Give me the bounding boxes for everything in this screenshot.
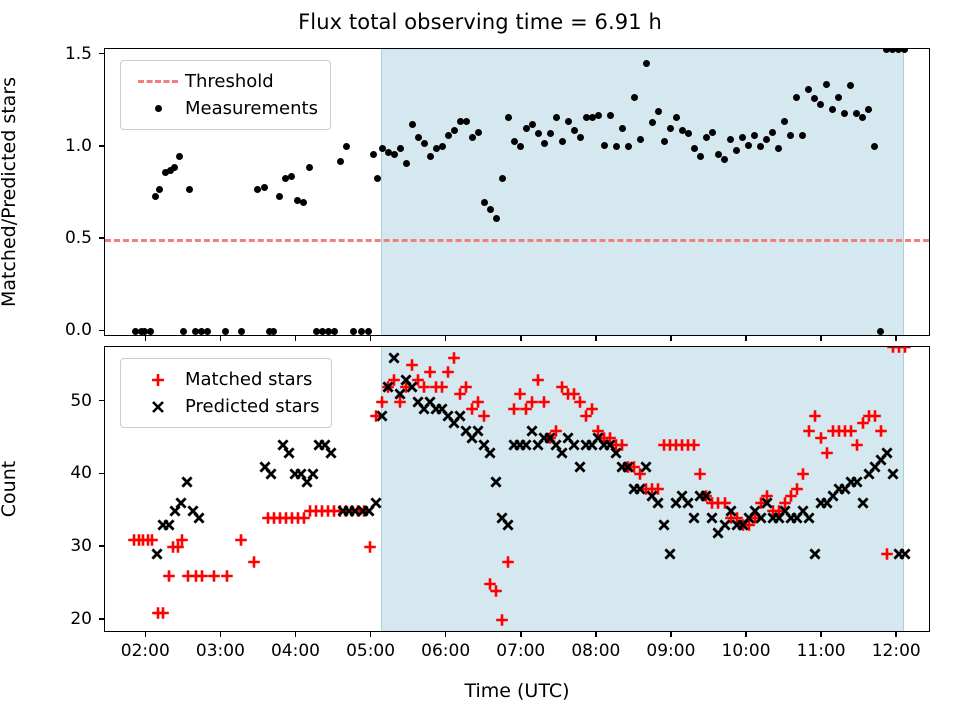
x-axis-tick — [520, 632, 522, 637]
legend-label-matched-stars: Matched stars — [185, 369, 312, 390]
data-point-measurement — [374, 175, 381, 182]
observing-window-edge — [903, 347, 904, 631]
y-axis-tick — [99, 330, 104, 332]
data-point-measurement — [553, 114, 560, 121]
data-point-measurement — [763, 136, 770, 143]
data-point-measurement — [667, 125, 674, 132]
x-axis-tick-label: 03:00 — [196, 641, 245, 661]
legend-label-predicted-stars: Predicted stars — [185, 396, 319, 417]
data-point-measurement — [276, 193, 283, 200]
x-axis-tick — [895, 632, 897, 637]
y-axis-tick-label: 30 — [26, 536, 92, 556]
data-point-measurement — [571, 127, 578, 134]
x-axis-tick — [670, 632, 672, 637]
data-point-measurement — [661, 138, 668, 145]
data-point-measurement — [445, 132, 452, 139]
x-axis-tick — [145, 336, 147, 341]
legend-item-matched-stars: Matched stars — [131, 366, 319, 393]
x-axis-tick-label: 11:00 — [797, 641, 846, 661]
dot-marker-icon — [131, 105, 185, 112]
y-axis-tick-label: 0.0 — [26, 320, 92, 340]
x-axis-tick-label: 05:00 — [346, 641, 395, 661]
observing-window-edge — [903, 49, 904, 335]
data-point-measurement — [505, 114, 512, 121]
data-point-measurement — [727, 136, 734, 143]
x-axis-tick-label: 07:00 — [496, 641, 545, 661]
data-point-measurement — [559, 138, 566, 145]
x-axis-tick-label: 09:00 — [646, 641, 695, 661]
data-point-measurement — [487, 206, 494, 213]
legend-label-threshold: Threshold — [185, 71, 274, 92]
observing-window-edge — [381, 49, 382, 335]
data-point-measurement — [337, 158, 344, 165]
legend-item-predicted-stars: Predicted stars — [131, 393, 319, 420]
data-point-measurement — [463, 118, 470, 125]
data-point-measurement — [421, 140, 428, 147]
x-axis-tick-label: 08:00 — [571, 641, 620, 661]
x-axis-tick — [820, 336, 822, 341]
y-axis-tick — [99, 53, 104, 55]
x-axis-tick — [895, 336, 897, 341]
data-point-measurement — [343, 143, 350, 150]
x-axis-tick — [520, 336, 522, 341]
data-point-measurement — [331, 328, 338, 335]
x-axis-tick — [595, 632, 597, 637]
data-point-measurement — [709, 129, 716, 136]
data-point-measurement — [469, 134, 476, 141]
data-point-measurement — [619, 125, 626, 132]
x-axis-tick-label: 10:00 — [722, 641, 771, 661]
x-axis-tick — [220, 336, 222, 341]
x-axis-tick — [295, 336, 297, 341]
legend-label-measurements: Measurements — [185, 98, 318, 119]
data-point-measurement — [541, 140, 548, 147]
y-axis-tick — [99, 473, 104, 475]
threshold-line — [105, 239, 929, 242]
x-axis-tick — [295, 632, 297, 637]
y-axis-tick — [99, 545, 104, 547]
y-axis-tick-label: 20 — [26, 609, 92, 629]
data-point-measurement — [238, 328, 245, 335]
legend-item-threshold: Threshold — [131, 68, 318, 95]
data-point-measurement — [288, 173, 295, 180]
y-axis-tick-label: 1.5 — [26, 44, 92, 64]
data-point-measurement — [529, 121, 536, 128]
data-point-measurement — [499, 175, 506, 182]
x-axis-tick — [745, 336, 747, 341]
x-axis-tick — [445, 336, 447, 341]
data-point-measurement — [697, 153, 704, 160]
data-point-measurement — [481, 199, 488, 206]
data-point-measurement — [261, 184, 268, 191]
x-axis-tick-label: 12:00 — [872, 641, 921, 661]
data-point-measurement — [391, 151, 398, 158]
legend-item-measurements: Measurements — [131, 95, 318, 122]
data-point-measurement — [901, 48, 908, 53]
data-point-measurement — [439, 143, 446, 150]
y-axis-tick — [99, 237, 104, 239]
x-axis-tick-label: 04:00 — [271, 641, 320, 661]
data-point-measurement — [306, 164, 313, 171]
data-point-measurement — [565, 118, 572, 125]
figure-canvas: Flux total observing time = 6.91 h 0.00.… — [0, 0, 960, 720]
x-axis-tick — [445, 632, 447, 637]
x-axis-tick-label: 06:00 — [421, 641, 470, 661]
data-point-measurement — [823, 81, 830, 88]
data-point-measurement — [607, 112, 614, 119]
ratio-plot-legend: Threshold Measurements — [120, 60, 331, 130]
y-axis-tick-label: 0.5 — [26, 228, 92, 248]
observing-window-shading — [381, 49, 904, 335]
x-axis-tick — [370, 632, 372, 637]
data-point-measurement — [637, 136, 644, 143]
data-point-measurement — [397, 145, 404, 152]
data-point-measurement — [403, 160, 410, 167]
data-point-measurement — [222, 328, 229, 335]
data-point-measurement — [673, 114, 680, 121]
count-plot-legend: Matched stars Predicted stars — [120, 358, 332, 428]
data-point-measurement — [631, 94, 638, 101]
data-point-measurement — [409, 121, 416, 128]
data-point-measurement — [835, 94, 842, 101]
data-point-measurement — [601, 142, 608, 149]
y-axis-tick-label: 50 — [26, 391, 92, 411]
data-point-measurement — [415, 134, 422, 141]
data-point-measurement — [577, 134, 584, 141]
data-point-measurement — [254, 186, 261, 193]
x-axis-tick — [670, 336, 672, 341]
data-point-measurement — [204, 328, 211, 335]
figure-title: Flux total observing time = 6.91 h — [0, 10, 960, 34]
data-point-measurement — [427, 153, 434, 160]
data-point-measurement — [859, 114, 866, 121]
data-point-measurement — [358, 328, 365, 335]
data-point-measurement — [350, 328, 357, 335]
x-axis-tick — [145, 632, 147, 637]
y-axis-tick — [99, 145, 104, 147]
data-point-measurement — [156, 186, 163, 193]
data-point-measurement — [595, 112, 602, 119]
x-marker-icon — [131, 399, 185, 415]
x-axis-tick — [370, 336, 372, 341]
data-point-measurement — [147, 328, 154, 335]
x-axis-tick — [820, 632, 822, 637]
x-axis-tick-label: 02:00 — [121, 641, 170, 661]
y-axis-tick — [99, 400, 104, 402]
data-point-measurement — [300, 199, 307, 206]
data-point-measurement — [793, 94, 800, 101]
data-point-measurement — [186, 186, 193, 193]
x-axis-tick — [595, 336, 597, 341]
ratio-y-axis-label: Matched/Predicted stars — [0, 77, 20, 307]
data-point-measurement — [171, 164, 178, 171]
data-point-measurement — [180, 328, 187, 335]
data-point-measurement — [270, 328, 277, 335]
data-point-measurement — [781, 118, 788, 125]
data-point-measurement — [152, 193, 159, 200]
plus-marker-icon — [131, 372, 185, 388]
data-point-measurement — [365, 328, 372, 335]
y-axis-tick — [99, 618, 104, 620]
data-point-measurement — [769, 129, 776, 136]
data-point-measurement — [745, 142, 752, 149]
data-point-measurement — [451, 127, 458, 134]
data-point-measurement — [370, 151, 377, 158]
x-axis-tick — [745, 632, 747, 637]
y-axis-tick-label: 40 — [26, 463, 92, 483]
data-point-measurement — [733, 147, 740, 154]
data-point-measurement — [176, 153, 183, 160]
data-point-measurement — [817, 101, 824, 108]
x-axis-tick — [220, 632, 222, 637]
x-axis-label: Time (UTC) — [104, 680, 930, 702]
dashed-line-icon — [131, 80, 185, 83]
y-axis-tick-label: 1.0 — [26, 136, 92, 156]
data-point-measurement — [475, 129, 482, 136]
count-y-axis-label: Count — [0, 461, 20, 517]
